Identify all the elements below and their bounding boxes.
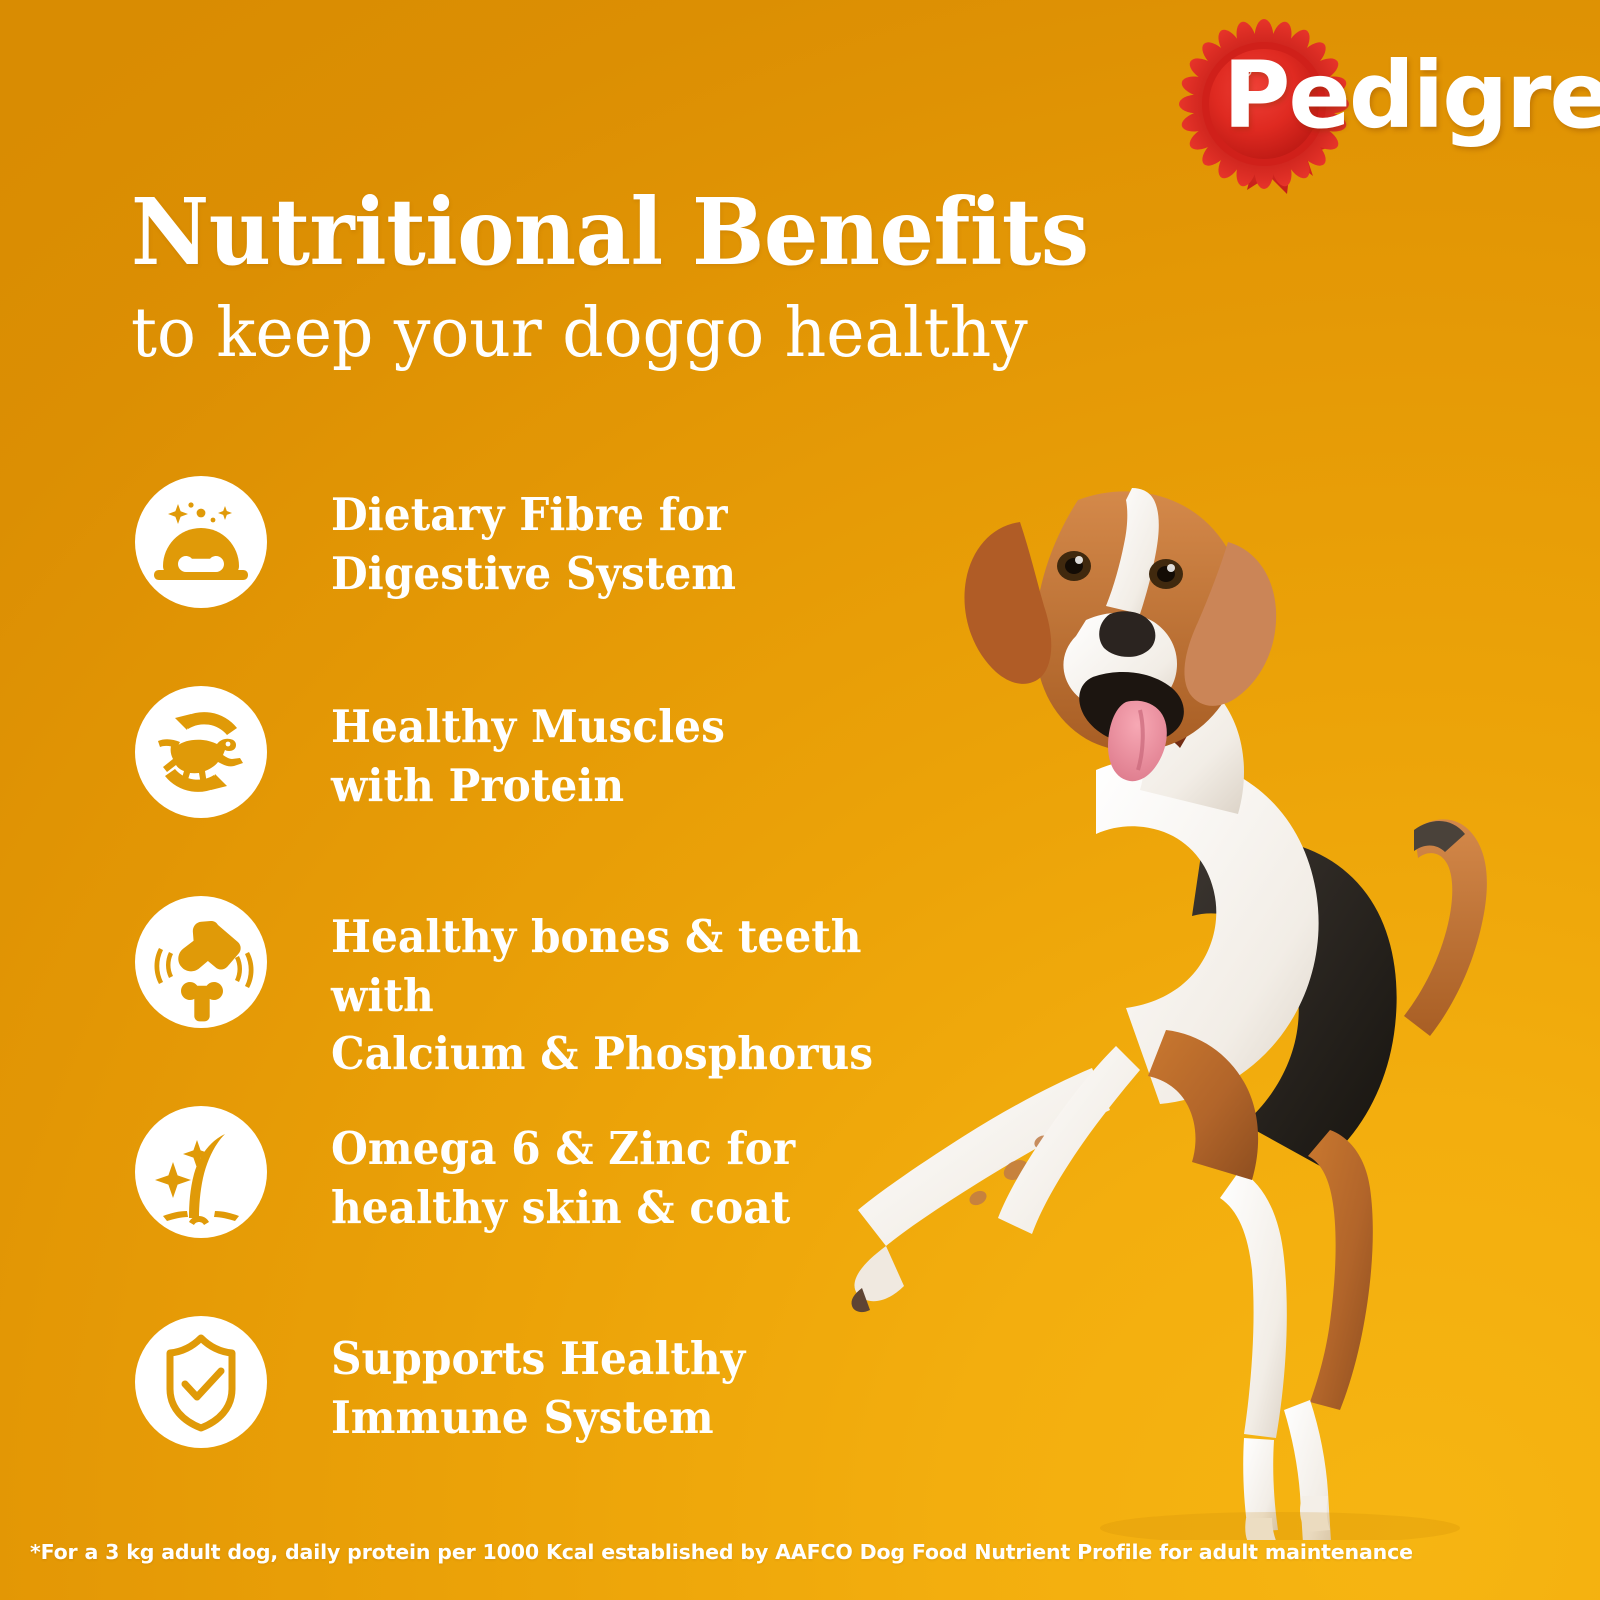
hair-follicle-sparkle-icon <box>133 1104 269 1240</box>
nutritional-benefits-poster: ® Pedigree Nutritional Benefits to keep … <box>0 0 1600 1600</box>
list-item: Dietary Fibre for Digestive System <box>0 468 960 678</box>
bone-joint-icon <box>133 894 269 1030</box>
brand-wordmark: Pedigree <box>1223 50 1600 142</box>
footnote-disclaimer: *For a 3 kg adult dog, daily protein per… <box>30 1540 1413 1564</box>
list-item-label: Omega 6 & Zinc for healthy skin & coat <box>331 1120 795 1237</box>
page-subtitle: to keep your doggo healthy <box>131 300 1028 368</box>
page-title: Nutritional Benefits <box>131 186 1089 278</box>
list-item: Healthy Muscles with Protein <box>0 678 960 888</box>
list-item: Supports Healthy Immune System <box>0 1308 960 1518</box>
list-item-label: Dietary Fibre for Digestive System <box>331 486 736 603</box>
benefits-list: Dietary Fibre for Digestive System <box>0 468 960 1518</box>
pedigree-logo[interactable]: ® Pedigree <box>1175 18 1575 188</box>
shield-check-icon <box>133 1314 269 1450</box>
list-item-label: Healthy bones & teeth with Calcium & Pho… <box>331 908 922 1084</box>
food-bowl-sparkle-icon <box>133 474 269 610</box>
list-item-label: Healthy Muscles with Protein <box>331 698 725 815</box>
running-dog-arrows-icon <box>133 684 269 820</box>
list-item-label: Supports Healthy Immune System <box>331 1330 745 1447</box>
list-item: Omega 6 & Zinc for healthy skin & coat <box>0 1098 960 1308</box>
list-item: Healthy bones & teeth with Calcium & Pho… <box>0 888 960 1098</box>
